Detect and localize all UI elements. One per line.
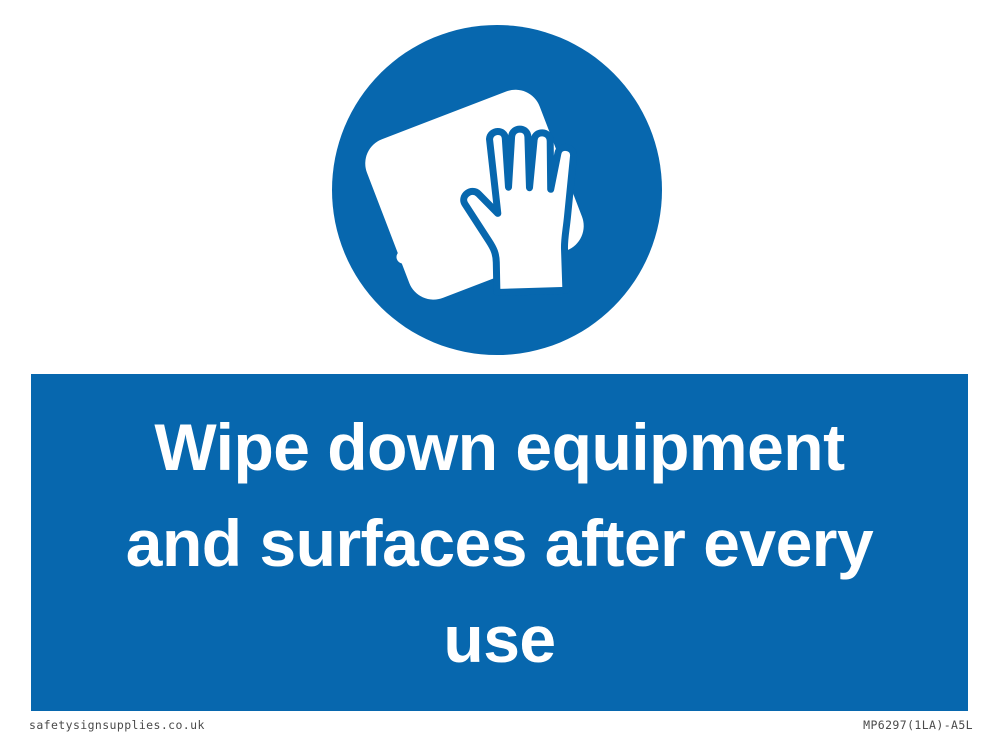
footer: safetysignsupplies.co.uk MP6297(1LA)-A5L	[0, 718, 1000, 740]
message-banner: Wipe down equipment and surfaces after e…	[31, 374, 968, 711]
safety-sign: Wipe down equipment and surfaces after e…	[0, 0, 1000, 749]
message-line-2: and surfaces after every	[126, 495, 873, 591]
wipe-surface-pictogram	[332, 25, 662, 355]
message-line-3: use	[443, 591, 555, 687]
message-line-1: Wipe down equipment	[154, 399, 844, 495]
site-credit: safetysignsupplies.co.uk	[29, 718, 205, 732]
product-code: MP6297(1LA)-A5L	[863, 718, 973, 732]
